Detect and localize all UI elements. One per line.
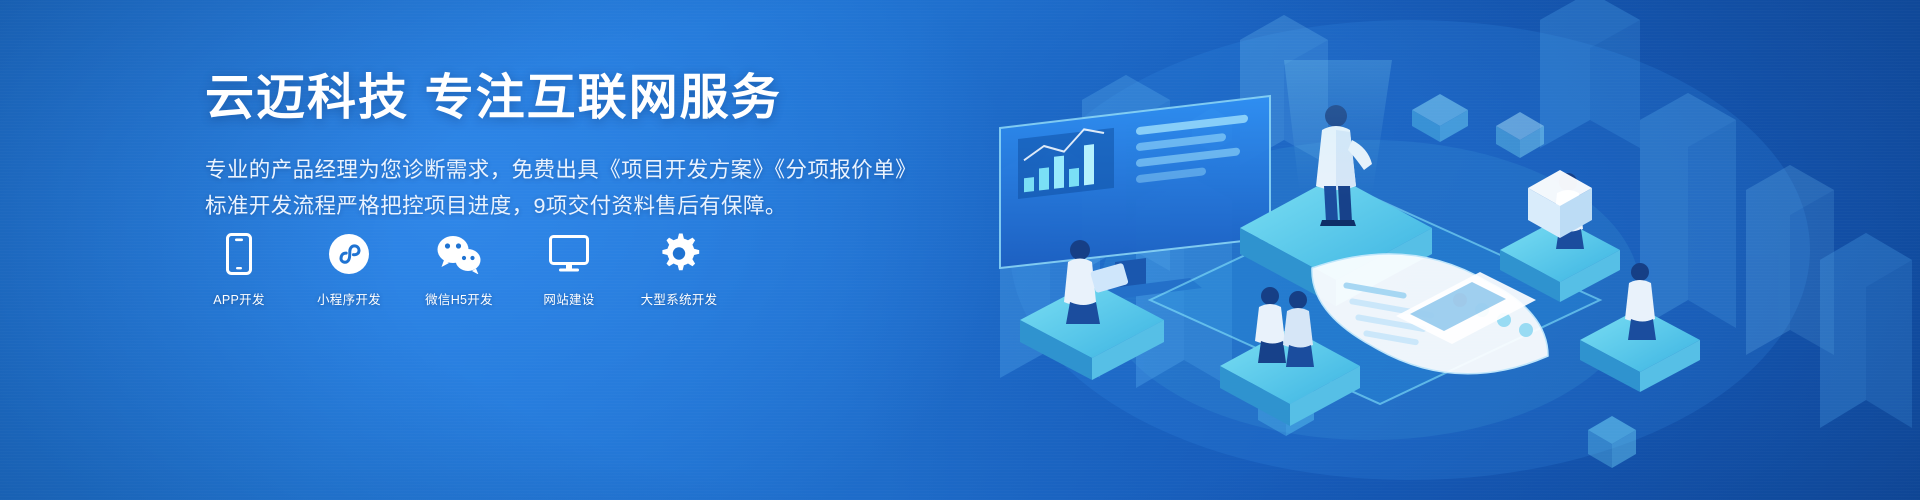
service-label: 大型系统开发 bbox=[641, 289, 718, 308]
hero-copy: 云迈科技 专注互联网服务 专业的产品经理为您诊断需求，免费出具《项目开发方案》《… bbox=[205, 72, 905, 224]
service-label: 小程序开发 bbox=[317, 289, 381, 308]
wechat-icon bbox=[436, 232, 482, 276]
mini-program-icon bbox=[328, 232, 370, 276]
service-item-miniprogram[interactable]: 小程序开发 bbox=[313, 232, 385, 308]
service-item-wechat-h5[interactable]: 微信H5开发 bbox=[423, 232, 495, 308]
service-item-large-system[interactable]: 大型系统开发 bbox=[643, 232, 715, 308]
hero-banner: 云迈科技 专注互联网服务 专业的产品经理为您诊断需求，免费出具《项目开发方案》《… bbox=[0, 0, 1920, 500]
service-item-app[interactable]: APP开发 bbox=[203, 232, 275, 308]
subtitle-line-1: 专业的产品经理为您诊断需求，免费出具《项目开发方案》《分项报价单》 bbox=[205, 152, 905, 188]
subtitle-line-2: 标准开发流程严格把控项目进度，9项交付资料售后有保障。 bbox=[205, 188, 905, 224]
mobile-phone-icon bbox=[226, 232, 252, 276]
service-label: APP开发 bbox=[213, 289, 265, 308]
hero-illustration bbox=[940, 0, 1920, 500]
gear-icon bbox=[658, 232, 700, 276]
service-label: 网站建设 bbox=[543, 289, 594, 308]
service-item-website[interactable]: 网站建设 bbox=[533, 232, 605, 308]
service-list: APP开发 小程序开发 bbox=[203, 232, 715, 308]
page-title: 云迈科技 专注互联网服务 bbox=[205, 72, 905, 126]
hero-subtitle: 专业的产品经理为您诊断需求，免费出具《项目开发方案》《分项报价单》 标准开发流程… bbox=[205, 152, 905, 224]
service-label: 微信H5开发 bbox=[425, 289, 493, 308]
monitor-icon bbox=[549, 232, 589, 276]
